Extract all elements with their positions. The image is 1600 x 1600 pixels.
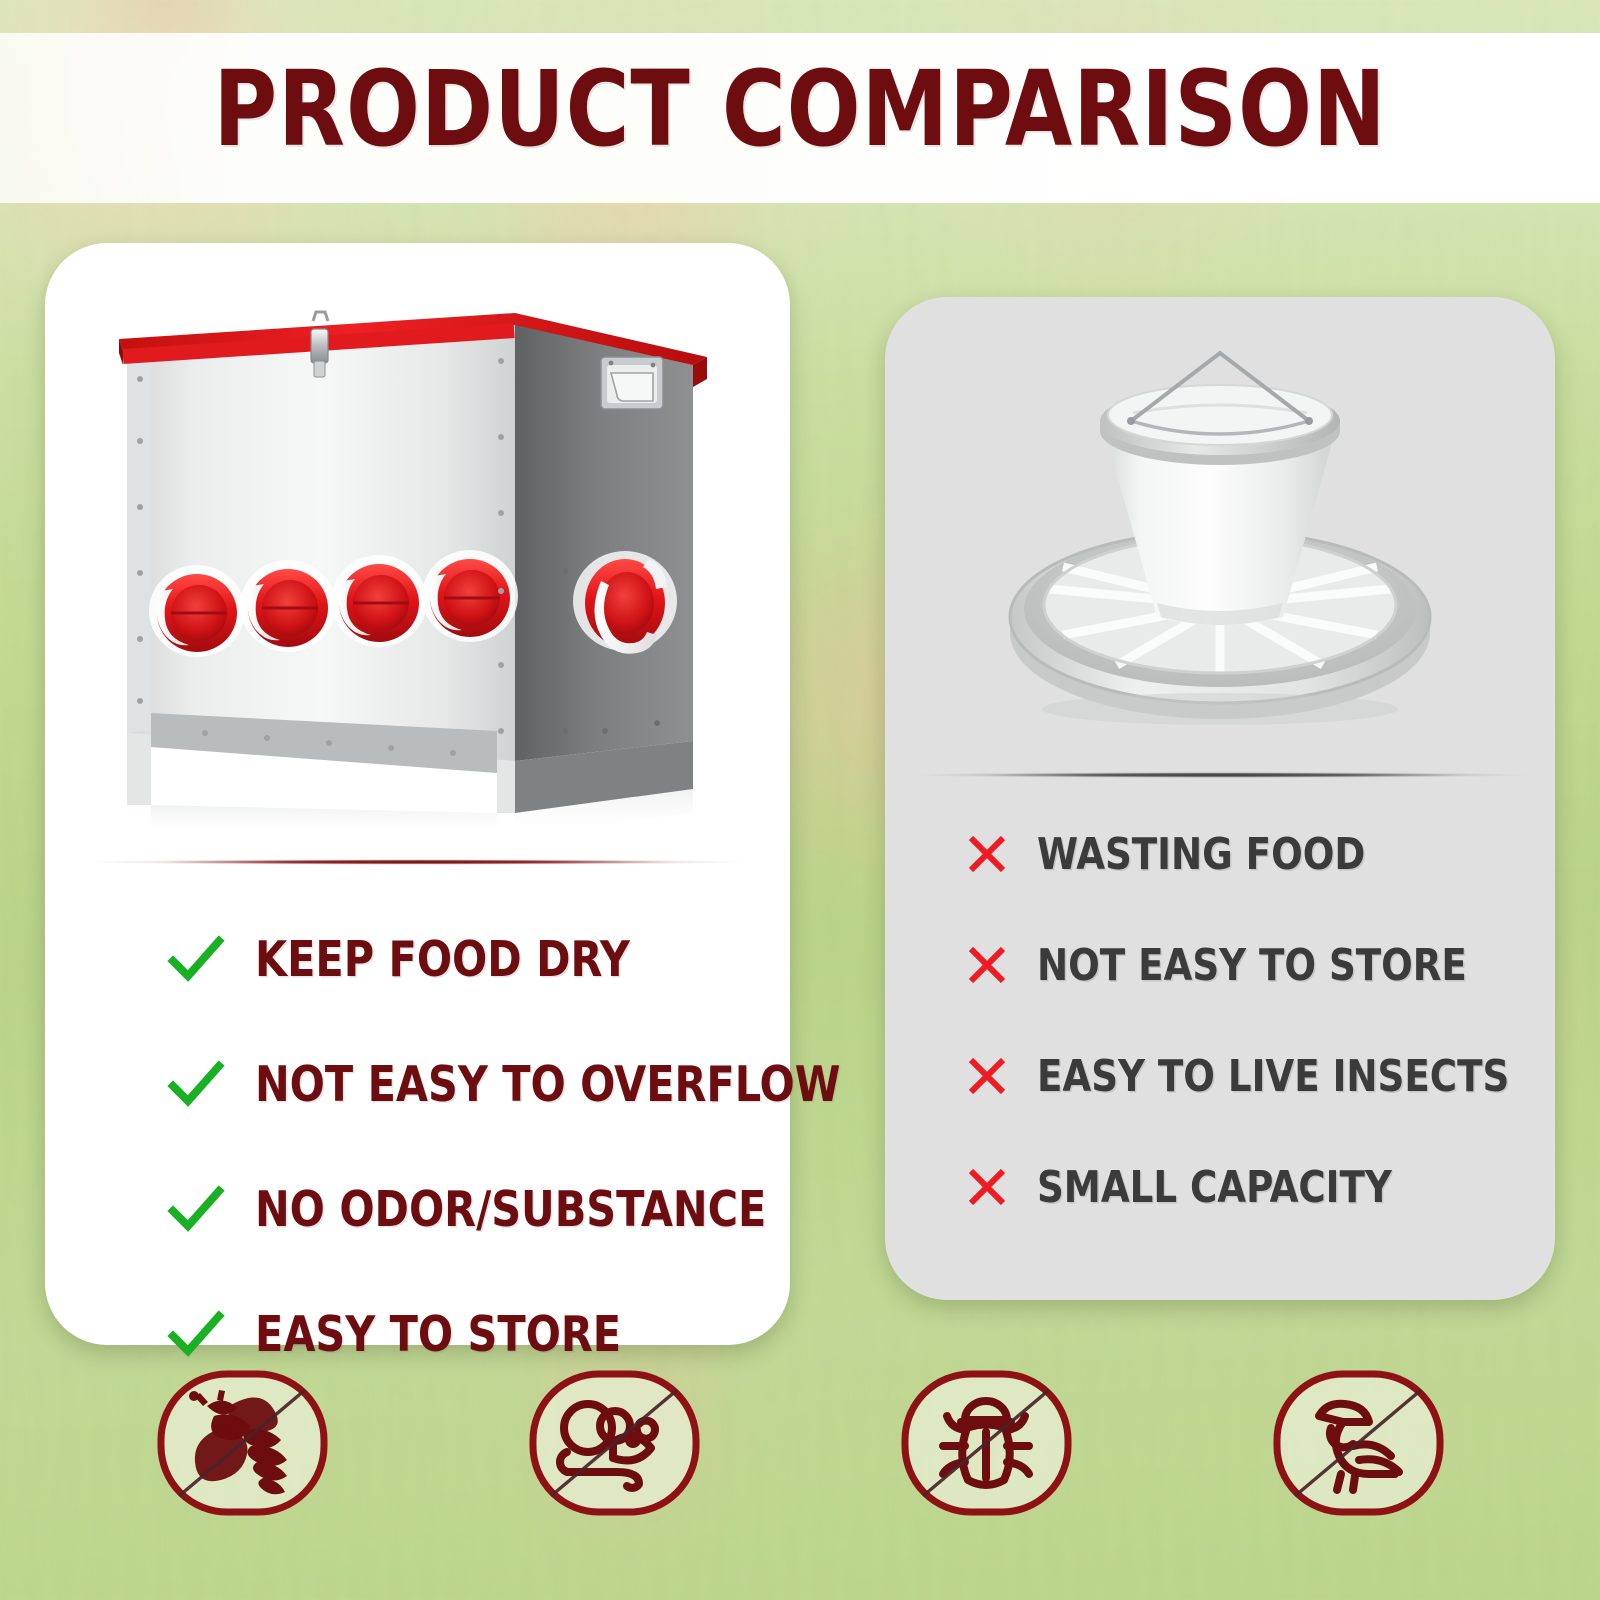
list-item: KEEP FOOD DRY [165, 915, 785, 1003]
feature-label: KEEP FOOD DRY [255, 931, 630, 988]
list-item: NO ODOR/SUBSTANCE [165, 1165, 785, 1253]
badge-no-birds [1271, 1368, 1446, 1518]
feature-label: NO ODOR/SUBSTANCE [255, 1181, 766, 1238]
check-icon [165, 1053, 227, 1115]
prohibition-slash [899, 1368, 1074, 1518]
card-divider-good [83, 859, 751, 865]
page-title: PRODUCT COMPARISON [56, 48, 1544, 170]
feature-list-bad: WASTING FOOD NOT EASY TO STORE EASY TO L… [963, 817, 1543, 1261]
prohibition-slash [155, 1368, 330, 1518]
prohibition-slash [527, 1368, 702, 1518]
feature-label: NOT EASY TO STORE [1037, 940, 1467, 991]
product-image-plastic-feeder [885, 317, 1555, 757]
check-icon [165, 1303, 227, 1365]
cross-icon [963, 941, 1011, 989]
list-item: NOT EASY TO STORE [963, 928, 1543, 1002]
product-image-metal-feeder [45, 261, 790, 841]
list-item: NOT EASY TO OVERFLOW [165, 1040, 785, 1128]
feature-label: WASTING FOOD [1037, 829, 1365, 880]
list-item: SMALL CAPACITY [963, 1150, 1543, 1224]
cross-icon [963, 1052, 1011, 1100]
card-divider-bad [911, 772, 1531, 778]
feature-label: EASY TO LIVE INSECTS [1037, 1051, 1509, 1102]
list-item: EASY TO LIVE INSECTS [963, 1039, 1543, 1113]
badge-no-rodents [527, 1368, 702, 1518]
check-icon [165, 1178, 227, 1240]
badge-no-flies [155, 1368, 330, 1518]
check-icon [165, 928, 227, 990]
cross-icon [963, 830, 1011, 878]
badge-no-bugs [899, 1368, 1074, 1518]
comparison-card-bad: WASTING FOOD NOT EASY TO STORE EASY TO L… [885, 297, 1555, 1300]
feature-label: SMALL CAPACITY [1037, 1162, 1392, 1213]
feature-list-good: KEEP FOOD DRY NOT EASY TO OVERFLOW NO OD… [165, 915, 785, 1415]
comparison-card-good: KEEP FOOD DRY NOT EASY TO OVERFLOW NO OD… [45, 243, 790, 1345]
feature-label: NOT EASY TO OVERFLOW [255, 1056, 840, 1113]
list-item: WASTING FOOD [963, 817, 1543, 891]
prohibition-slash [1271, 1368, 1446, 1518]
pest-protection-badge-row [0, 1368, 1600, 1558]
cross-icon [963, 1163, 1011, 1211]
feature-label: EASY TO STORE [255, 1306, 621, 1363]
list-item: EASY TO STORE [165, 1290, 785, 1378]
